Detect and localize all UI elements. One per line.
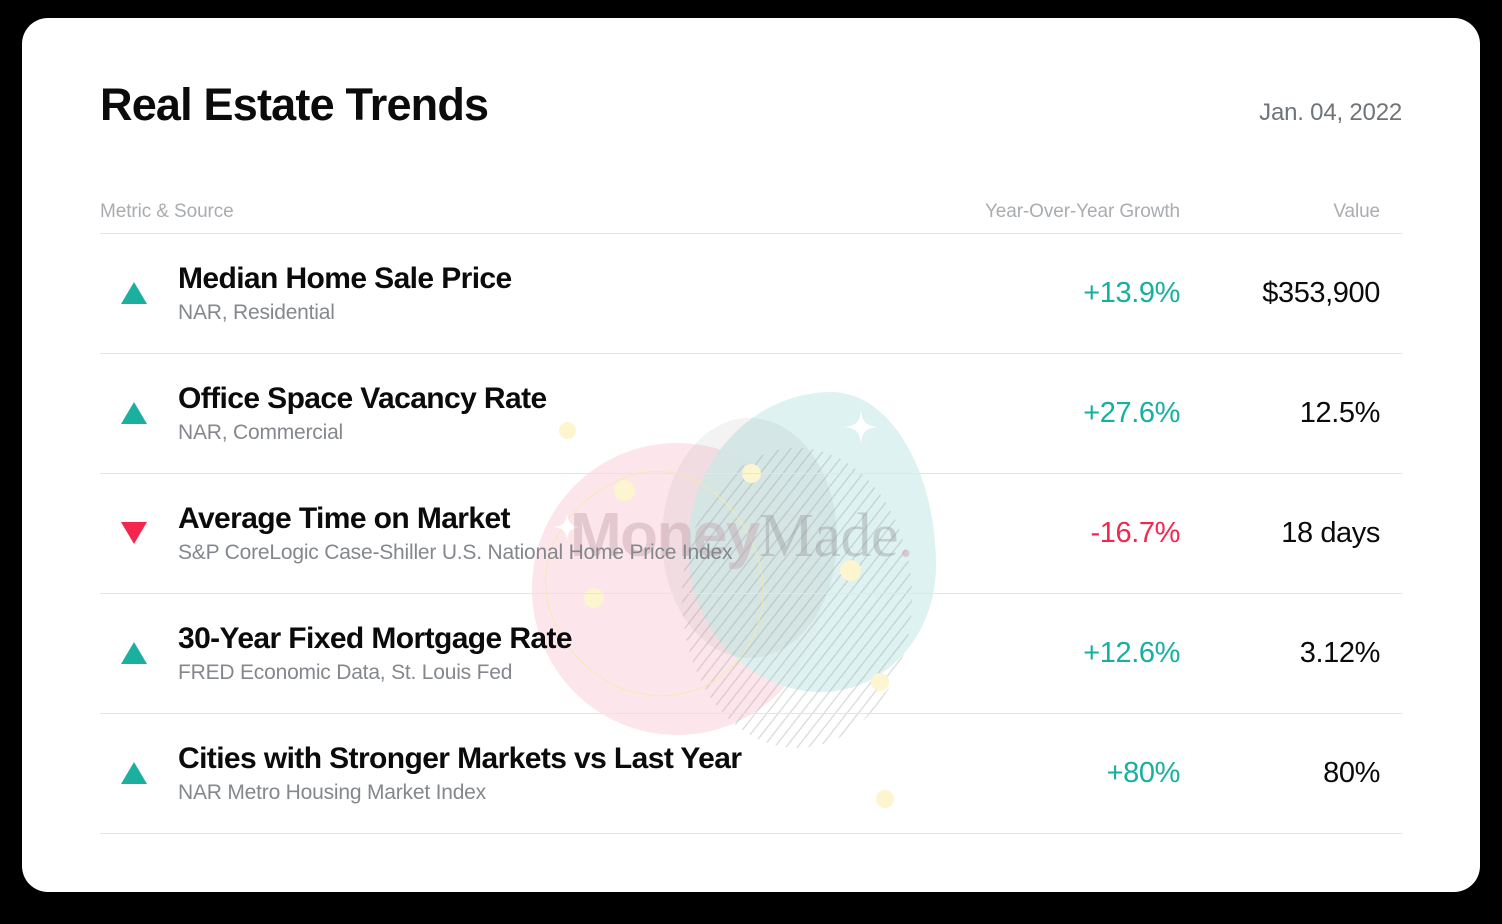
metric-source: FRED Economic Data, St. Louis Fed — [178, 661, 572, 685]
metrics-table: Metric & Source Year-Over-Year Growth Va… — [100, 191, 1402, 834]
table-row[interactable]: Office Space Vacancy RateNAR, Commercial… — [100, 353, 1402, 473]
metric-name: 30-Year Fixed Mortgage Rate — [178, 622, 572, 656]
growth-value: -16.7% — [860, 517, 1190, 550]
metric-source: NAR, Residential — [178, 301, 512, 325]
growth-value: +13.9% — [860, 277, 1190, 310]
metric-text-block: Cities with Stronger Markets vs Last Yea… — [178, 742, 741, 804]
metric-value: 80% — [1190, 757, 1402, 790]
metric-name: Cities with Stronger Markets vs Last Yea… — [178, 742, 741, 776]
triangle-down-icon — [121, 522, 147, 544]
metric-text-block: Median Home Sale PriceNAR, Residential — [178, 262, 512, 324]
triangle-up-icon — [121, 762, 147, 784]
metric-value: 12.5% — [1190, 397, 1402, 430]
table-body: Median Home Sale PriceNAR, Residential+1… — [100, 233, 1402, 833]
page-title: Real Estate Trends — [100, 80, 488, 130]
triangle-up-icon — [121, 282, 147, 304]
metric-source: NAR, Commercial — [178, 421, 547, 445]
column-header-value: Value — [1190, 201, 1402, 223]
card-header: Real Estate Trends Jan. 04, 2022 — [100, 80, 1402, 130]
metric-cell: Office Space Vacancy RateNAR, Commercial — [100, 382, 860, 444]
table-column-headers: Metric & Source Year-Over-Year Growth Va… — [100, 191, 1402, 233]
metric-value: 18 days — [1190, 517, 1402, 550]
metric-source: S&P CoreLogic Case-Shiller U.S. National… — [178, 541, 732, 565]
trend-indicator — [100, 762, 178, 784]
metric-value: $353,900 — [1190, 277, 1402, 310]
trend-indicator — [100, 282, 178, 304]
growth-value: +12.6% — [860, 637, 1190, 670]
growth-value: +27.6% — [860, 397, 1190, 430]
metric-cell: Cities with Stronger Markets vs Last Yea… — [100, 742, 860, 804]
report-date: Jan. 04, 2022 — [1259, 99, 1402, 127]
page-root: MoneyMade. Real Estate Trends Jan. 04, 2… — [0, 0, 1502, 924]
metric-value: 3.12% — [1190, 637, 1402, 670]
trend-indicator — [100, 642, 178, 664]
metric-text-block: 30-Year Fixed Mortgage RateFRED Economic… — [178, 622, 572, 684]
table-row[interactable]: Average Time on MarketS&P CoreLogic Case… — [100, 473, 1402, 593]
triangle-up-icon — [121, 642, 147, 664]
metric-source: NAR Metro Housing Market Index — [178, 781, 741, 805]
table-row[interactable]: 30-Year Fixed Mortgage RateFRED Economic… — [100, 593, 1402, 713]
metric-cell: Average Time on MarketS&P CoreLogic Case… — [100, 502, 860, 564]
real-estate-trends-card: MoneyMade. Real Estate Trends Jan. 04, 2… — [22, 18, 1480, 892]
metric-name: Average Time on Market — [178, 502, 732, 536]
table-row[interactable]: Median Home Sale PriceNAR, Residential+1… — [100, 233, 1402, 353]
column-header-metric: Metric & Source — [100, 201, 860, 223]
table-bottom-divider — [100, 833, 1402, 834]
triangle-up-icon — [121, 402, 147, 424]
metric-name: Median Home Sale Price — [178, 262, 512, 296]
metric-text-block: Office Space Vacancy RateNAR, Commercial — [178, 382, 547, 444]
metric-cell: 30-Year Fixed Mortgage RateFRED Economic… — [100, 622, 860, 684]
column-header-growth: Year-Over-Year Growth — [860, 201, 1190, 223]
trend-indicator — [100, 522, 178, 544]
trend-indicator — [100, 402, 178, 424]
table-row[interactable]: Cities with Stronger Markets vs Last Yea… — [100, 713, 1402, 833]
metric-cell: Median Home Sale PriceNAR, Residential — [100, 262, 860, 324]
metric-name: Office Space Vacancy Rate — [178, 382, 547, 416]
growth-value: +80% — [860, 757, 1190, 790]
metric-text-block: Average Time on MarketS&P CoreLogic Case… — [178, 502, 732, 564]
